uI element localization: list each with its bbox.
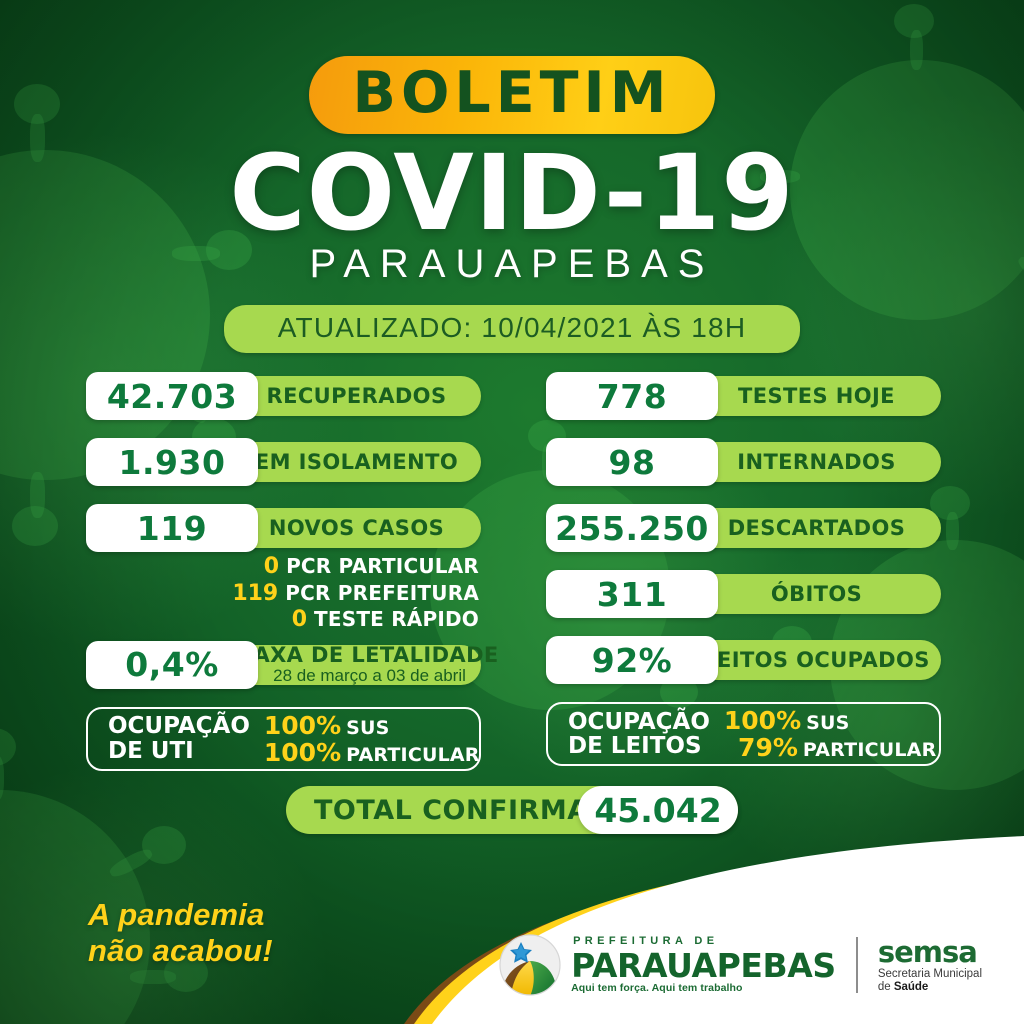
updated-bar: ATUALIZADO: 10/04/2021 ÀS 18H (224, 305, 801, 353)
stat-value-box: 1.930 (86, 438, 258, 486)
stat-value-box: 311 (546, 570, 718, 618)
stat-value-box: 119 (86, 504, 258, 552)
total-confirmed-value: 45.042 (594, 791, 721, 830)
prefeitura-name: PARAUAPEBAS (571, 949, 836, 982)
stat-value: 311 (597, 575, 667, 614)
stat-label: ÓBITOS (745, 582, 862, 606)
slogan-line2: não acabou! (88, 933, 273, 969)
occupancy-beds-title-line1: OCUPAÇÃO (568, 710, 710, 734)
stat-value: 98 (609, 443, 656, 482)
stat-value: 778 (597, 377, 667, 416)
occupancy-uti-title-line2: DE UTI (108, 739, 250, 763)
slogan: A pandemia não acabou! (88, 897, 273, 969)
stat-row-novos-casos: NOVOS CASOS 119 (86, 504, 481, 552)
semsa-sub-prefix: de (878, 981, 894, 993)
stat-row-descartados: DESCARTADOS 255.250 (546, 504, 941, 552)
occupancy-percent: 100% (724, 707, 801, 734)
occupancy-beds-values: 100% SUS 79% PARTICULAR (724, 707, 937, 761)
boletim-badge: BOLETIM (309, 56, 716, 134)
page-title: COVID-19 (0, 140, 1024, 246)
occupancy-row: 100% SUS (264, 712, 480, 739)
stat-label: TESTES HOJE (712, 384, 895, 408)
poster-header: BOLETIM COVID-19 PARAUAPEBAS ATUALIZADO:… (0, 0, 1024, 353)
stat-value: 1.930 (119, 443, 226, 482)
stat-value-box: 98 (546, 438, 718, 486)
stat-value: 119 (137, 509, 207, 548)
occupancy-row: 100% PARTICULAR (264, 739, 480, 766)
stat-row-leitos-ocupados: LEITOS OCUPADOS 92% (546, 636, 941, 684)
updated-text: ATUALIZADO: 10/04/2021 ÀS 18H (278, 312, 747, 343)
semsa-wordmark: semsa (878, 937, 982, 968)
stat-row-taxa-letalidade: TAXA DE LETALIDADE 28 de março a 03 de a… (86, 641, 481, 689)
breakdown-item: 119 PCR PREFEITURA (86, 581, 479, 607)
breakdown-number: 119 (232, 581, 278, 607)
breakdown-label: PCR PREFEITURA (285, 582, 479, 605)
occupancy-percent: 79% (724, 734, 798, 761)
stat-label: NOVOS CASOS (243, 516, 444, 540)
breakdown-item: 0 PCR PARTICULAR (86, 554, 479, 580)
prefeitura-tagline: Aqui tem força. Aqui tem trabalho (571, 983, 836, 994)
occupancy-beds-box: OCUPAÇÃO DE LEITOS 100% SUS 79% PARTICUL… (546, 702, 941, 766)
boletim-badge-label: BOLETIM (353, 60, 672, 126)
occupancy-uti-title: OCUPAÇÃO DE UTI (108, 714, 250, 763)
stat-label: EM ISOLAMENTO (229, 450, 458, 474)
city-subtitle: PARAUAPEBAS (0, 242, 1024, 287)
breakdown-item: 0 TESTE RÁPIDO (86, 607, 479, 633)
stat-row-recuperados: RECUPERADOS 42.703 (86, 372, 481, 420)
stat-row-obitos: ÓBITOS 311 (546, 570, 941, 618)
occupancy-uti-values: 100% SUS 100% PARTICULAR (264, 712, 480, 766)
stat-value-box: 92% (546, 636, 718, 684)
total-confirmed-section: TOTAL CONFIRMADOS 45.042 (0, 786, 1024, 834)
occupancy-kind: PARTICULAR (803, 740, 937, 761)
occupancy-row: 79% PARTICULAR (724, 734, 937, 761)
semsa-subtitle-line1: Secretaria Municipal (878, 968, 982, 980)
stat-label: RECUPERADOS (241, 384, 447, 408)
breakdown-label: PCR PARTICULAR (286, 555, 479, 578)
total-confirmed-bar: TOTAL CONFIRMADOS 45.042 (286, 786, 738, 834)
prefeitura-emblem-icon (499, 934, 561, 996)
stat-value-box: 255.250 (546, 504, 718, 552)
semsa-subtitle-line2: de Saúde (878, 981, 982, 993)
stat-row-internados: INTERNADOS 98 (546, 438, 941, 486)
stat-value-box: 778 (546, 372, 718, 420)
stat-label: DESCARTADOS (702, 516, 906, 540)
stat-value: 42.703 (107, 377, 237, 416)
occupancy-beds-title: OCUPAÇÃO DE LEITOS (568, 710, 710, 759)
occupancy-beds-title-line2: DE LEITOS (568, 734, 710, 758)
footer-logos: PREFEITURA DE PARAUAPEBAS Aqui tem força… (499, 934, 982, 996)
occupancy-uti-box: OCUPAÇÃO DE UTI 100% SUS 100% PARTICULAR (86, 707, 481, 771)
stats-column-right: TESTES HOJE 778 INTERNADOS 98 DESCARTADO… (546, 372, 941, 766)
prefeitura-wordmark: PREFEITURA DE PARAUAPEBAS Aqui tem força… (571, 936, 836, 994)
prefeitura-logo: PREFEITURA DE PARAUAPEBAS Aqui tem força… (499, 934, 836, 996)
occupancy-kind: SUS (346, 718, 389, 739)
stat-row-testes-hoje: TESTES HOJE 778 (546, 372, 941, 420)
breakdown-number: 0 (235, 554, 279, 580)
total-confirmed-value-box: 45.042 (578, 786, 738, 834)
occupancy-row: 100% SUS (724, 707, 937, 734)
occupancy-percent: 100% (264, 712, 341, 739)
breakdown-label: TESTE RÁPIDO (314, 608, 479, 631)
occupancy-uti-title-line1: OCUPAÇÃO (108, 714, 250, 738)
stat-value: 92% (592, 641, 673, 680)
stats-column-left: RECUPERADOS 42.703 EM ISOLAMENTO 1.930 N… (86, 372, 481, 771)
covid-bulletin-poster: BOLETIM COVID-19 PARAUAPEBAS ATUALIZADO:… (0, 0, 1024, 1024)
new-cases-breakdown: 0 PCR PARTICULAR 119 PCR PREFEITURA 0 TE… (86, 554, 481, 633)
breakdown-number: 0 (263, 607, 307, 633)
occupancy-kind: PARTICULAR (346, 745, 480, 766)
stat-value: 255.250 (555, 509, 709, 548)
semsa-logo: semsa Secretaria Municipal de Saúde (878, 937, 982, 993)
stat-label: INTERNADOS (711, 450, 895, 474)
semsa-sub-bold: Saúde (894, 981, 929, 993)
stat-value: 0,4% (125, 645, 219, 684)
occupancy-kind: SUS (806, 713, 849, 734)
occupancy-percent: 100% (264, 739, 341, 766)
slogan-line1: A pandemia (88, 897, 273, 933)
stat-value-box: 42.703 (86, 372, 258, 420)
stat-row-em-isolamento: EM ISOLAMENTO 1.930 (86, 438, 481, 486)
logo-divider (856, 937, 858, 993)
stat-value-box: 0,4% (86, 641, 258, 689)
